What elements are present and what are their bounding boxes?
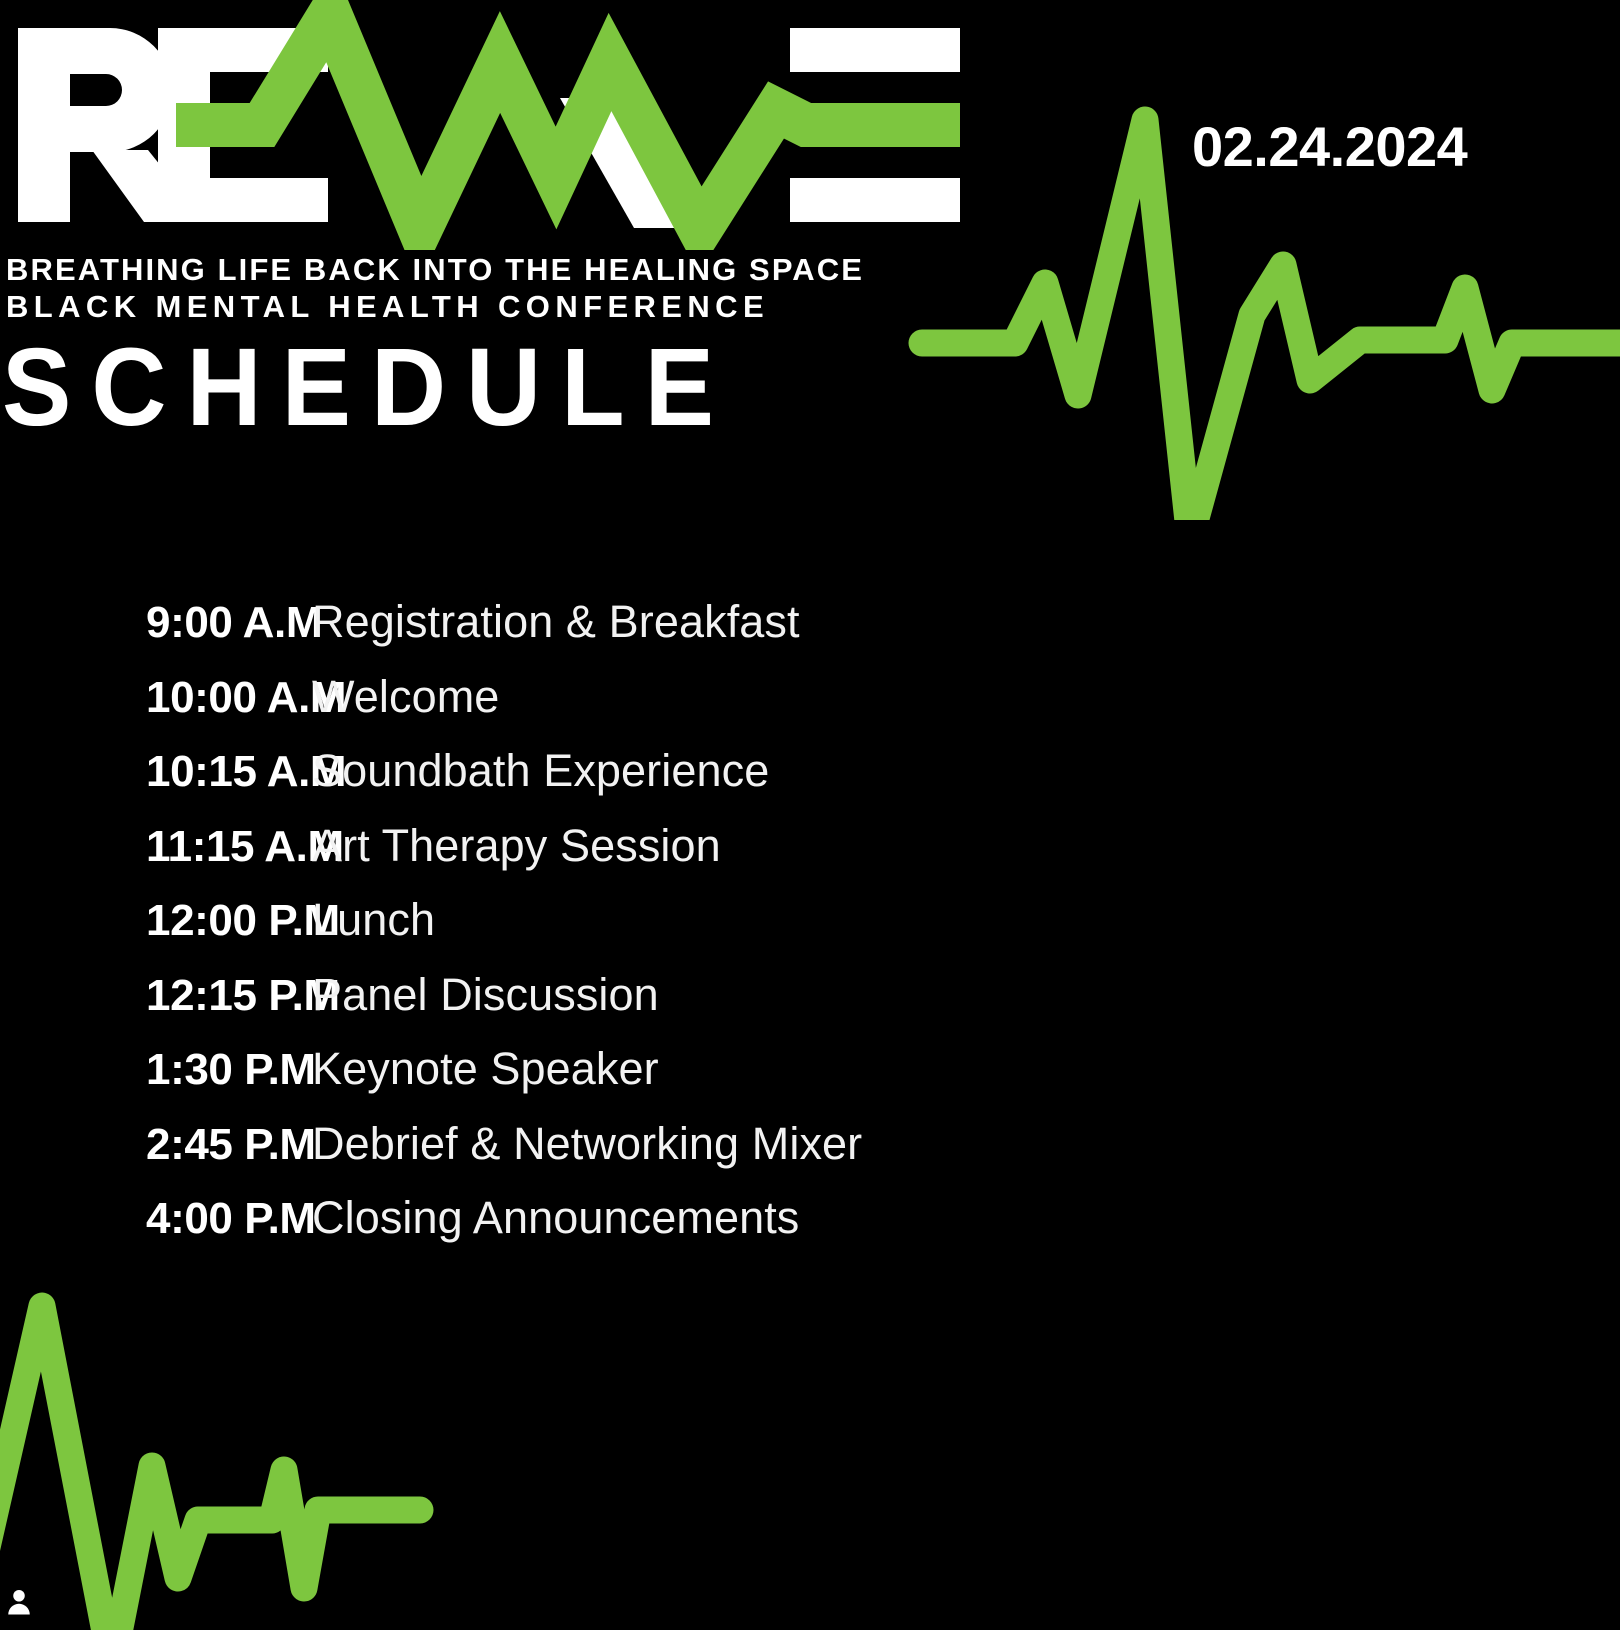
- table-row: 10:15 A.M Soundbath Experience: [0, 745, 1620, 820]
- schedule-time: 1:30 P.M: [0, 1045, 312, 1095]
- table-row: 12:00 P.M Lunch: [0, 894, 1620, 969]
- schedule-event: Welcome: [312, 671, 499, 723]
- heartbeat-line-icon-bottom: [0, 1248, 480, 1630]
- tagline-primary: BREATHING LIFE BACK INTO THE HEALING SPA…: [6, 252, 864, 288]
- schedule-event: Debrief & Networking Mixer: [312, 1118, 862, 1170]
- schedule-time: 12:00 P.M: [0, 896, 312, 946]
- schedule-time: 4:00 P.M: [0, 1194, 312, 1244]
- schedule-time: 11:15 A.M: [0, 822, 312, 872]
- table-row: 11:15 A.M Art Therapy Session: [0, 820, 1620, 895]
- table-row: 1:30 P.M Keynote Speaker: [0, 1043, 1620, 1118]
- person-icon[interactable]: [4, 1586, 34, 1618]
- schedule-poster: BREATHING LIFE BACK INTO THE HEALING SPA…: [0, 0, 1620, 1630]
- schedule-event: Lunch: [312, 894, 435, 946]
- schedule-time: 10:15 A.M: [0, 747, 312, 797]
- table-row: 10:00 A.M Welcome: [0, 671, 1620, 746]
- schedule-event: Art Therapy Session: [312, 820, 721, 872]
- schedule-time: 10:00 A.M: [0, 673, 312, 723]
- schedule-event: Registration & Breakfast: [312, 596, 800, 648]
- schedule-event: Keynote Speaker: [312, 1043, 659, 1095]
- table-row: 9:00 A.M Registration & Breakfast: [0, 596, 1620, 671]
- schedule-time: 2:45 P.M: [0, 1120, 312, 1170]
- event-date: 02.24.2024: [1192, 114, 1467, 179]
- schedule-event: Panel Discussion: [312, 969, 659, 1021]
- schedule-event: Soundbath Experience: [312, 745, 769, 797]
- table-row: 12:15 P.M Panel Discussion: [0, 969, 1620, 1044]
- page-title: SCHEDULE: [2, 333, 734, 443]
- schedule-time: 9:00 A.M: [0, 598, 312, 648]
- schedule-time: 12:15 P.M: [0, 971, 312, 1021]
- table-row: 2:45 P.M Debrief & Networking Mixer: [0, 1118, 1620, 1193]
- schedule-event: Closing Announcements: [312, 1192, 799, 1244]
- schedule-table: 9:00 A.M Registration & Breakfast 10:00 …: [0, 596, 1620, 1267]
- tagline-secondary: BLACK MENTAL HEALTH CONFERENCE: [6, 289, 769, 325]
- revive-logo: [0, 0, 960, 250]
